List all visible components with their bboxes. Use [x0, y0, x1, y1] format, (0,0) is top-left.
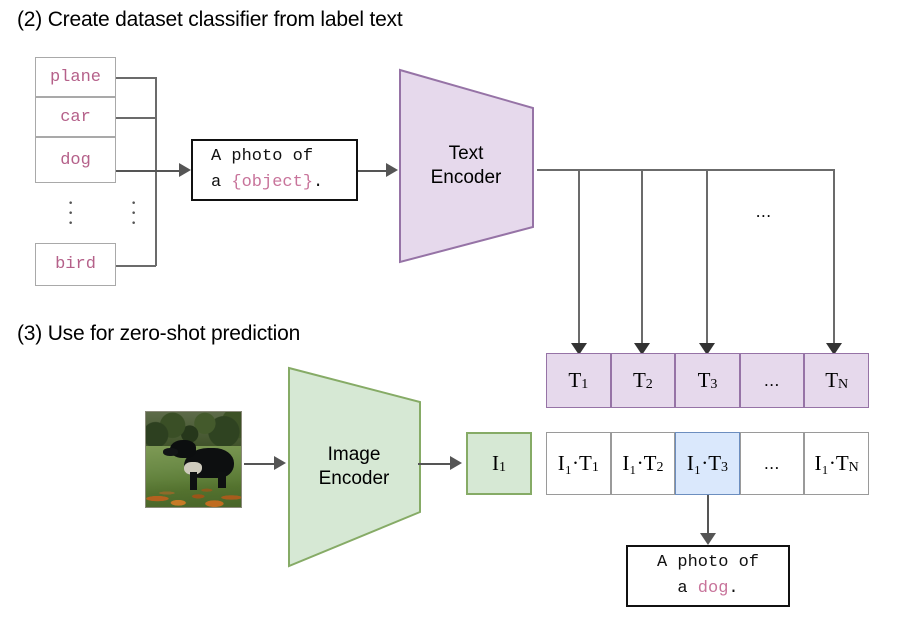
image-embedding-symbol: I: [492, 451, 499, 476]
image-embedding-subscript: 1: [499, 460, 506, 476]
class-label-text: bird: [55, 255, 96, 274]
section-2-title: (2) Create dataset classifier from label…: [17, 8, 403, 32]
prediction-prefix: a: [677, 579, 697, 598]
similarity-cell-1[interactable]: I₁·T1: [546, 432, 611, 495]
image-encoder-label-line2: Encoder: [319, 467, 390, 491]
bracket-stub-car: [116, 117, 156, 119]
bracket-stub-bird: [116, 265, 156, 267]
class-label-box-car[interactable]: car: [35, 97, 116, 137]
text-encoder-fanout-bus: [537, 169, 834, 171]
arrow-image-encoder-to-embedding: [450, 456, 462, 470]
similarity-subscript: N: [849, 460, 859, 476]
text-embedding-row: T1 T2 T3 ... TN: [546, 353, 869, 408]
text-embedding-symbol: T: [698, 368, 711, 393]
fanout-branch-n: [833, 169, 835, 343]
image-encoder-label-line1: Image: [328, 443, 381, 467]
class-label-box-plane[interactable]: plane: [35, 57, 116, 97]
prompt-template-line1: A photo of: [211, 144, 313, 170]
prompt-template-placeholder: {object}: [231, 173, 313, 192]
text-embedding-symbol: T: [633, 368, 646, 393]
similarity-cell-2[interactable]: I₁·T2: [611, 432, 676, 495]
text-encoder-label-line1: Text: [449, 142, 484, 166]
class-label-box-bird[interactable]: bird: [35, 243, 116, 286]
prediction-line2: a dog.: [677, 576, 738, 602]
similarity-subscript: 1: [592, 460, 599, 476]
text-embedding-subscript: N: [838, 377, 848, 393]
text-embedding-symbol: T: [568, 368, 581, 393]
photo-dog-hindleg: [218, 472, 226, 488]
similarity-label: I₁·T: [622, 451, 656, 476]
prompt-template-prefix: a: [211, 173, 231, 192]
photo-dog-snout: [163, 448, 178, 456]
text-encoder-block[interactable]: Text Encoder: [394, 66, 538, 266]
text-embedding-ellipsis: ...: [764, 371, 780, 391]
photo-dog-foreleg: [190, 472, 197, 490]
text-embedding-subscript: 2: [646, 377, 653, 393]
prediction-result-box[interactable]: A photo of a dog.: [626, 545, 790, 607]
similarity-row: I₁·T1 I₁·T2 I₁·T3 ... I₁·TN: [546, 432, 869, 495]
fanout-branch-1: [578, 169, 580, 343]
input-photo[interactable]: [145, 411, 242, 508]
similarity-cell-ellipsis: ...: [740, 432, 805, 495]
text-encoder-label-line2: Encoder: [431, 166, 502, 190]
bracket-column-ellipsis: ···: [130, 198, 137, 228]
bracket-to-prompt-line: [116, 170, 186, 172]
text-embedding-cell-t1[interactable]: T1: [546, 353, 611, 408]
class-label-box-dog[interactable]: dog: [35, 137, 116, 183]
fanout-branch-2: [641, 169, 643, 343]
similarity-cell-n[interactable]: I₁·TN: [804, 432, 869, 495]
similarity-subscript: 3: [721, 460, 728, 476]
text-embedding-cell-tn[interactable]: TN: [804, 353, 869, 408]
prompt-template-line2: a {object}.: [211, 170, 323, 196]
similarity-subscript: 2: [656, 460, 663, 476]
image-encoder-block[interactable]: Image Encoder: [284, 364, 424, 570]
image-embedding-box[interactable]: I1: [466, 432, 532, 495]
prompt-template-box[interactable]: A photo of a {object}.: [191, 139, 358, 201]
class-label-text: dog: [60, 151, 91, 170]
prediction-suffix: .: [728, 579, 738, 598]
text-embedding-cell-t2[interactable]: T2: [611, 353, 676, 408]
selected-to-result-line: [707, 495, 709, 536]
similarity-label: I₁·T: [815, 451, 849, 476]
similarity-label: I₁·T: [558, 451, 592, 476]
class-label-text: car: [60, 108, 91, 127]
prediction-line1: A photo of: [657, 550, 759, 576]
text-embedding-cell-t3[interactable]: T3: [675, 353, 740, 408]
prompt-template-suffix: .: [313, 173, 323, 192]
text-embedding-subscript: 3: [710, 377, 717, 393]
fanout-ellipsis: ...: [756, 202, 772, 222]
arrow-labels-to-prompt: [179, 163, 191, 177]
text-embedding-cell-ellipsis: ...: [740, 353, 805, 408]
prediction-placeholder: dog: [698, 579, 729, 598]
text-embedding-subscript: 1: [581, 377, 588, 393]
fanout-branch-3: [706, 169, 708, 343]
similarity-label: I₁·T: [687, 451, 721, 476]
similarity-ellipsis: ...: [764, 454, 780, 474]
arrow-selected-to-result: [700, 533, 716, 545]
text-embedding-symbol: T: [825, 368, 838, 393]
section-3-title: (3) Use for zero-shot prediction: [17, 322, 300, 346]
similarity-cell-3-selected[interactable]: I₁·T3: [675, 432, 740, 495]
class-label-text: plane: [50, 68, 101, 87]
label-column-ellipsis: ···: [67, 198, 74, 228]
bracket-stub-plane: [116, 77, 156, 79]
